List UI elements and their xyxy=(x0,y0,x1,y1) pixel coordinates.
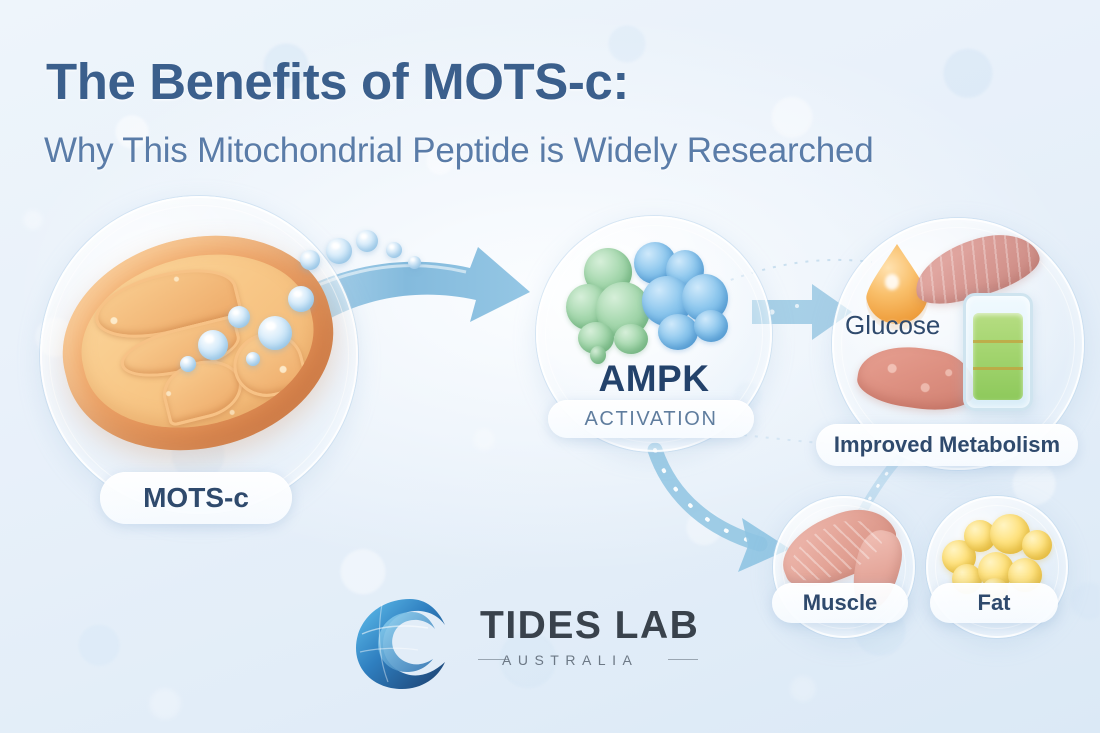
label-fat: Fat xyxy=(978,590,1011,616)
page-title: The Benefits of MOTS-c: xyxy=(46,52,629,111)
infographic-canvas: The Benefits of MOTS-c: Why This Mitocho… xyxy=(0,0,1100,733)
label-pill-muscle[interactable]: Muscle xyxy=(772,583,908,623)
label-ampk-activation: ACTIVATION xyxy=(584,408,717,431)
logo-rule-right xyxy=(668,659,698,660)
label-improved-metabolism: Improved Metabolism xyxy=(834,432,1060,458)
battery-fill xyxy=(973,313,1023,400)
brand-logo[interactable]: TIDES LAB AUSTRALIA xyxy=(352,594,716,694)
label-pill-ampk-activation[interactable]: ACTIVATION xyxy=(548,400,754,438)
label-ampk: AMPK xyxy=(536,358,772,400)
logo-wordmark: TIDES LAB xyxy=(480,604,699,648)
label-mots-c: MOTS-c xyxy=(143,482,249,514)
wave-crescent-icon xyxy=(352,594,468,694)
label-pill-fat[interactable]: Fat xyxy=(930,583,1058,623)
page-subtitle: Why This Mitochondrial Peptide is Widely… xyxy=(44,131,874,171)
label-muscle: Muscle xyxy=(803,590,878,616)
label-pill-mots-c[interactable]: MOTS-c xyxy=(100,472,292,524)
battery-energy-icon xyxy=(963,293,1033,411)
logo-tagline: AUSTRALIA xyxy=(502,652,638,668)
label-glucose: Glucose xyxy=(845,310,940,341)
protein-complex-icon xyxy=(566,238,738,374)
label-pill-improved-metabolism[interactable]: Improved Metabolism xyxy=(816,424,1078,466)
